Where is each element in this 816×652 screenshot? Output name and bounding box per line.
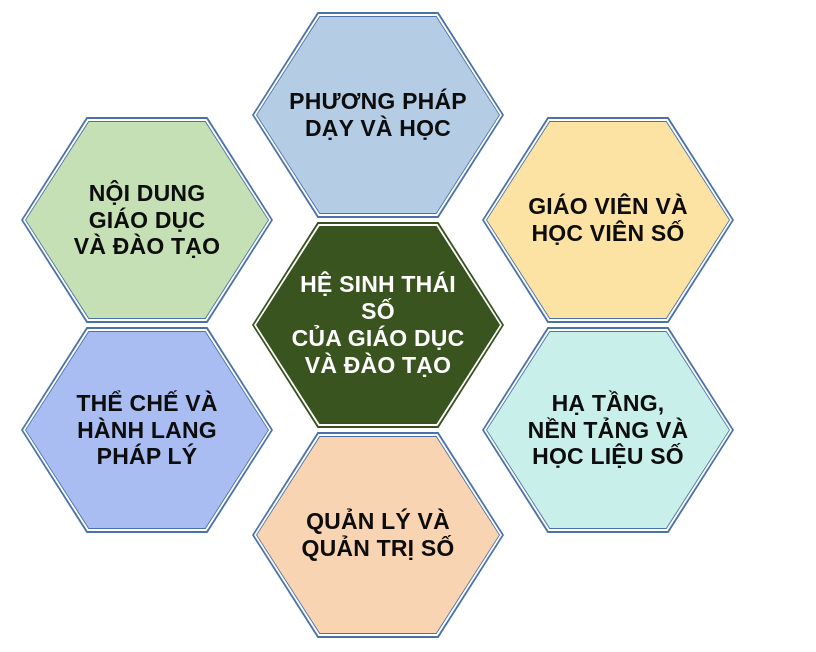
hexagon-label-infrastructure-platforms-resources: HẠ TẦNG, NỀN TẢNG VÀ HỌC LIỆU SỐ	[482, 327, 734, 533]
hexagon-ecosystem-diagram: PHƯƠNG PHÁP DẠY VÀ HỌC NỘI DUNG GIÁO DỤC…	[0, 0, 816, 652]
hexagon-teaching-learning-methods[interactable]: PHƯƠNG PHÁP DẠY VÀ HỌC	[252, 12, 504, 218]
hexagon-digital-management-governance[interactable]: QUẢN LÝ VÀ QUẢN TRỊ SỐ	[252, 432, 504, 638]
hexagon-infrastructure-platforms-resources[interactable]: HẠ TẦNG, NỀN TẢNG VÀ HỌC LIỆU SỐ	[482, 327, 734, 533]
hexagon-label-institutions-legal-framework: THỂ CHẾ VÀ HÀNH LANG PHÁP LÝ	[21, 327, 273, 533]
hexagon-label-digital-teachers-learners: GIÁO VIÊN VÀ HỌC VIÊN SỐ	[482, 117, 734, 323]
hexagon-digital-ecosystem-center[interactable]: HỆ SINH THÁI SỐ CỦA GIÁO DỤC VÀ ĐÀO TẠO	[252, 222, 504, 428]
hexagon-label-teaching-learning-methods: PHƯƠNG PHÁP DẠY VÀ HỌC	[252, 12, 504, 218]
hexagon-label-digital-ecosystem-center: HỆ SINH THÁI SỐ CỦA GIÁO DỤC VÀ ĐÀO TẠO	[252, 222, 504, 428]
hexagon-institutions-legal-framework[interactable]: THỂ CHẾ VÀ HÀNH LANG PHÁP LÝ	[21, 327, 273, 533]
hexagon-label-digital-management-governance: QUẢN LÝ VÀ QUẢN TRỊ SỐ	[252, 432, 504, 638]
hexagon-digital-teachers-learners[interactable]: GIÁO VIÊN VÀ HỌC VIÊN SỐ	[482, 117, 734, 323]
hexagon-education-content[interactable]: NỘI DUNG GIÁO DỤC VÀ ĐÀO TẠO	[21, 117, 273, 323]
hexagon-label-education-content: NỘI DUNG GIÁO DỤC VÀ ĐÀO TẠO	[21, 117, 273, 323]
